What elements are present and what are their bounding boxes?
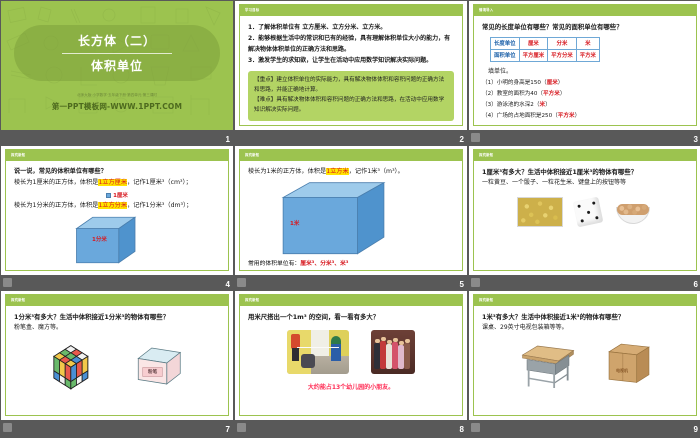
slide-6-question: 1厘米³有多大？生活中体积接近1厘米³的物体有哪些？: [482, 167, 688, 178]
slide-2-number: 2: [460, 135, 464, 144]
slide-8-content: 用米尺搭出一个1m³ 的空间，看一看有多大？: [240, 306, 462, 415]
cell-area-1: 平方厘米: [519, 49, 548, 61]
slide-3-frame: 情境导入 常见的长度单位有哪些？常见的面积单位有哪些？ 长度单位 厘米 分米 米…: [473, 4, 697, 126]
fill-item-1-text: （1）小明的身高是150（: [482, 80, 547, 86]
footer-thumb-icon: [471, 423, 480, 432]
slide-5-footer-line: 常用的体积单位有：厘米³、分米³、米³: [248, 258, 454, 267]
dm-cube-wrap: 1分米: [14, 214, 220, 262]
m-line-suffix: ，记作1米³（m³）。: [349, 168, 404, 175]
meter-cube-label: 1米: [290, 219, 299, 227]
fill-item-4-tail: ）: [575, 113, 581, 119]
objective-item-1: 1．了解体积单位有 立方厘米、立方分米、立方米。: [248, 22, 454, 33]
slide-7-question: 1分米³有多大？生活中体积接近1分米³的物体有哪些？: [14, 312, 220, 323]
title-subtext: 北师大版·小学数学·五年级下册·第四单元·第三课时: [1, 93, 233, 98]
m-line-prefix: 棱长为1米的正方体，体积是: [248, 168, 326, 175]
slide-2-body: 学习目标 1．了解体积单位有 立方厘米、立方分米、立方米。 2．能够根据生活中的…: [235, 1, 467, 130]
decimeter-cube-icon: [59, 214, 159, 266]
slide-thumbnail-7[interactable]: 探究新知 1分米³有多大？生活中体积接近1分米³的物体有哪些？ 粉笔盒、魔方等。: [1, 291, 233, 434]
slide-9-header-label: 探究新知: [479, 297, 493, 302]
slide-8-number: 8: [460, 425, 464, 434]
slide-9-footer: [469, 420, 700, 434]
slide-5-line: 棱长为1米的正方体，体积是1立方米，记作1米³（m³）。: [248, 167, 454, 178]
fill-item-2-tail: ）: [560, 91, 566, 97]
slide-4-content: 说一说，常见的体积单位有哪些？ 棱长为1厘米的正方体，体积是1立方厘米，记作1厘…: [6, 161, 228, 270]
chalk-box-label: 粉笔: [148, 369, 157, 375]
title-divider: [62, 53, 172, 54]
meter-cube-wrap: 1米: [248, 181, 454, 257]
cell-length-1: 厘米: [519, 37, 548, 49]
slide-8-header-label: 探究新知: [245, 297, 259, 302]
slide-5-content: 棱长为1米的正方体，体积是1立方米，记作1米³（m³）。 1米 常用的体积单位有…: [240, 161, 462, 270]
slide-7-content: 1分米³有多大？生活中体积接近1分米³的物体有哪些？ 粉笔盒、魔方等。: [6, 306, 228, 415]
slide-title-line2: 体积单位: [91, 57, 143, 74]
slide-7-frame: 探究新知 1分米³有多大？生活中体积接近1分米³的物体有哪些？ 粉笔盒、魔方等。: [5, 294, 229, 416]
slide-thumbnail-9[interactable]: 探究新知 1米³有多大？生活中体积接近1米³的物体有哪些？ 课桌、29英寸电视包…: [469, 291, 700, 434]
slide-4-question: 说一说，常见的体积单位有哪些？: [14, 167, 220, 178]
line1-suffix: ，记作1厘米³（cm³）；: [127, 179, 192, 186]
slide-6-body: 探究新知 1厘米³有多大？生活中体积接近1厘米³的物体有哪些？ 一粒黄豆、一个骰…: [469, 146, 700, 275]
slide-6-footer: [469, 275, 700, 289]
dice-photo: [573, 197, 604, 228]
fill-item-2-text: （2）教室的面积为40（: [482, 91, 543, 97]
slide-4-header-bar: 探究新知: [6, 150, 228, 161]
slide-8-header-bar: 探究新知: [240, 295, 462, 306]
footer-thumb-icon: [471, 278, 480, 287]
common-units-prefix: 常用的体积单位有：: [248, 261, 300, 267]
slide-9-question: 1米³有多大？生活中体积接近1米³的物体有哪些？: [482, 312, 688, 323]
slide-5-header-label: 探究新知: [245, 152, 259, 157]
footer-thumb-icon: [3, 423, 12, 432]
slide-thumbnail-2[interactable]: 学习目标 1．了解体积单位有 立方厘米、立方分米、立方米。 2．能够根据生活中的…: [235, 1, 467, 144]
fill-item-3-tail: ）: [545, 102, 551, 108]
slide-6-frame: 探究新知 1厘米³有多大？生活中体积接近1厘米³的物体有哪些？ 一粒黄豆、一个骰…: [473, 149, 697, 271]
cell-length-3: 米: [576, 37, 599, 49]
slide-thumbnail-6[interactable]: 探究新知 1厘米³有多大？生活中体积接近1厘米³的物体有哪些？ 一粒黄豆、一个骰…: [469, 146, 700, 289]
m-line-highlight: 1立方米: [326, 168, 349, 175]
dm-cube-label: 1分米: [92, 235, 107, 243]
fill-item-4-answer: 平方米: [558, 113, 575, 119]
chalk-box-photo: 粉笔: [135, 345, 185, 391]
slide-8-frame: 探究新知 用米尺搭出一个1m³ 的空间，看一看有多大？: [239, 294, 463, 416]
slide-2-footer: [235, 130, 467, 144]
slide-thumbnail-1[interactable]: 长方体（二） 体积单位 北师大版·小学数学·五年级下册·第四单元·第三课时 第一…: [1, 1, 233, 144]
slide-6-number: 6: [694, 280, 698, 289]
cell-length-2: 分米: [548, 37, 577, 49]
peanuts-bowl-photo: [613, 198, 653, 226]
slide-5-number: 5: [460, 280, 464, 289]
cell-area-2: 平方分米: [548, 49, 577, 61]
slide-title-line1: 长方体（二）: [78, 32, 156, 49]
slide-thumbnail-grid: 长方体（二） 体积单位 北师大版·小学数学·五年级下册·第四单元·第三课时 第一…: [0, 0, 700, 438]
objective-item-2: 2．能够根据生活中的常识和已有的经验，具有理解体积单位大小的能力，有解决物体体积…: [248, 33, 454, 55]
soybeans-photo: [517, 197, 563, 227]
key-difficulty-box: 【重点】建立体积单位的实际能力，具有解决物体体积和容积问题的正确方法和思路，并能…: [248, 71, 454, 120]
slide-9-body: 探究新知 1米³有多大？生活中体积接近1米³的物体有哪些？ 课桌、29英寸电视包…: [469, 291, 700, 420]
fill-item-3: （3）游泳池的水深2（米）: [482, 100, 688, 111]
small-cube-label: 1厘米: [113, 191, 128, 199]
fill-blank-list: 填单位。 （1）小明的身高是150（厘米） （2）教室的面积为40（平方米） （…: [482, 66, 688, 123]
slide-4-line1: 棱长为1厘米的正方体，体积是1立方厘米，记作1厘米³（cm³）；: [14, 178, 220, 189]
fill-item-1: （1）小明的身高是150（厘米）: [482, 78, 688, 89]
key-point-text: 【重点】建立体积单位的实际能力，具有解决物体体积和容积问题的正确方法和思路，并能…: [254, 76, 448, 96]
slide-5-footer: [235, 275, 467, 289]
slide-5-frame: 探究新知 棱长为1米的正方体，体积是1立方米，记作1米³（m³）。 1米: [239, 149, 463, 271]
school-desk-photo: [518, 343, 578, 391]
line2-prefix: 棱长为1分米的正方体，体积是: [14, 202, 98, 209]
slide-7-answer: 粉笔盒、魔方等。: [14, 323, 220, 333]
slide-7-header-bar: 探究新知: [6, 295, 228, 306]
line2-highlight: 1立方分米: [98, 202, 127, 209]
slide-4-number: 4: [226, 280, 230, 289]
slide-9-answer: 课桌、29英寸电视包装箱等等。: [482, 323, 688, 333]
slide-9-photo-row: 电视机: [482, 341, 688, 391]
common-units-values: 厘米³、分米³、米³: [300, 261, 348, 267]
slide-3-body: 情境导入 常见的长度单位有哪些？常见的面积单位有哪些？ 长度单位 厘米 分米 米…: [469, 1, 700, 130]
slide-6-content: 1厘米³有多大？生活中体积接近1厘米³的物体有哪些？ 一粒黄豆、一个骰子、一粒花…: [474, 161, 696, 270]
slide-6-photo-row: [482, 197, 688, 227]
slide-9-number: 9: [694, 425, 698, 434]
slide-thumbnail-4[interactable]: 探究新知 说一说，常见的体积单位有哪些？ 棱长为1厘米的正方体，体积是1立方厘米…: [1, 146, 233, 289]
footer-thumb-icon: [471, 133, 480, 142]
line1-highlight: 1立方厘米: [98, 179, 127, 186]
slide-1-body: 长方体（二） 体积单位 北师大版·小学数学·五年级下册·第四单元·第三课时 第一…: [1, 1, 233, 130]
slide-3-header-bar: 情境导入: [474, 5, 696, 16]
slide-8-photo-row: [248, 330, 454, 374]
small-cube-icon: [106, 193, 111, 198]
slide-6-header-label: 探究新知: [479, 152, 493, 157]
footer-thumb-icon: [3, 278, 12, 287]
slide-2-header-label: 学习目标: [245, 7, 259, 12]
chalk-box-icon: [135, 345, 185, 387]
slide-6-answer: 一粒黄豆、一个骰子、一粒花生米、键盘上的按钮等等: [482, 178, 688, 188]
slide-thumbnail-3[interactable]: 情境导入 常见的长度单位有哪些？常见的面积单位有哪些？ 长度单位 厘米 分米 米…: [469, 1, 700, 144]
difficulty-point-text: 【难点】具有解决物体体积和容积问题的正确方法和思路，在活动中应用数学知识解决实际…: [254, 96, 448, 116]
footer-thumb-icon: [237, 278, 246, 287]
table-row: 面积单位 平方厘米 平方分米 平方米: [491, 49, 600, 61]
fill-item-2: （2）教室的面积为40（平方米）: [482, 89, 688, 100]
slide-3-header-label: 情境导入: [479, 7, 493, 12]
slide-1-number: 1: [226, 135, 230, 144]
cardboard-carton-photo: 电视机: [606, 341, 652, 391]
fill-item-3-text: （3）游泳池的水深2（: [482, 102, 539, 108]
slide-7-footer: [1, 420, 233, 434]
cell-area-3: 平方米: [576, 49, 599, 61]
title-panel: 长方体（二） 体积单位: [14, 25, 220, 81]
small-cube-row: 1厘米: [14, 191, 220, 199]
slide-8-footer: [235, 420, 467, 434]
title-website: 第一PPT模板网-WWW.1PPT.COM: [1, 101, 233, 112]
units-table: 长度单位 厘米 分米 米 面积单位 平方厘米 平方分米 平方米: [490, 37, 600, 62]
slide-7-photo-row: 粉笔: [14, 341, 220, 395]
slide-7-header-label: 探究新知: [11, 297, 25, 302]
slide-2-frame: 学习目标 1．了解体积单位有 立方厘米、立方分米、立方米。 2．能够根据生活中的…: [239, 4, 463, 126]
objective-item-3: 3．激发学生的求知欲，让学生在活动中应用数学知识解决实际问题。: [248, 55, 454, 66]
children-measuring-photo: [287, 330, 349, 374]
row-label-area: 面积单位: [491, 49, 520, 61]
slide-5-header-bar: 探究新知: [240, 150, 462, 161]
children-group-photo: [371, 330, 415, 374]
table-row: 长度单位 厘米 分米 米: [491, 37, 600, 49]
slide-8-question: 用米尺搭出一个1m³ 的空间，看一看有多大？: [248, 312, 454, 323]
fill-item-2-answer: 平方米: [543, 91, 560, 97]
slide-2-content: 1．了解体积单位有 立方厘米、立方分米、立方米。 2．能够根据生活中的常识和已有…: [240, 16, 462, 125]
slide-4-frame: 探究新知 说一说，常见的体积单位有哪些？ 棱长为1厘米的正方体，体积是1立方厘米…: [5, 149, 229, 271]
slide-4-header-label: 探究新知: [11, 152, 25, 157]
slide-4-line2: 棱长为1分米的正方体，体积是1立方分米，记作1分米³（dm³）；: [14, 201, 220, 212]
slide-2-header-bar: 学习目标: [240, 5, 462, 16]
slide-3-question: 常见的长度单位有哪些？常见的面积单位有哪些？: [482, 22, 688, 33]
fill-item-1-tail: ）: [558, 80, 564, 86]
footer-thumb-icon: [237, 423, 246, 432]
carton-icon: [606, 341, 652, 387]
rubiks-cube-photo: [49, 341, 105, 395]
slide-4-footer: [1, 275, 233, 289]
slide-8-note: 大约能占13个幼儿园的小朋友。: [248, 382, 454, 391]
fill-item-1-answer: 厘米: [547, 80, 558, 86]
slide-3-content: 常见的长度单位有哪些？常见的面积单位有哪些？ 长度单位 厘米 分米 米 面积单位…: [474, 16, 696, 125]
slide-9-frame: 探究新知 1米³有多大？生活中体积接近1米³的物体有哪些？ 课桌、29英寸电视包…: [473, 294, 697, 416]
slide-9-header-bar: 探究新知: [474, 295, 696, 306]
slide-6-header-bar: 探究新知: [474, 150, 696, 161]
slide-8-body: 探究新知 用米尺搭出一个1m³ 的空间，看一看有多大？: [235, 291, 467, 420]
slide-9-content: 1米³有多大？生活中体积接近1米³的物体有哪些？ 课桌、29英寸电视包装箱等等。: [474, 306, 696, 415]
row-label-length: 长度单位: [491, 37, 520, 49]
slide-thumbnail-8[interactable]: 探究新知 用米尺搭出一个1m³ 的空间，看一看有多大？: [235, 291, 467, 434]
fill-item-4-text: （4）广场的占地面积是250（: [482, 113, 558, 119]
slide-thumbnail-5[interactable]: 探究新知 棱长为1米的正方体，体积是1立方米，记作1米³（m³）。 1米: [235, 146, 467, 289]
line2-suffix: ，记作1分米³（dm³）；: [127, 202, 192, 209]
slide-1-footer: [1, 130, 233, 144]
slide-4-body: 探究新知 说一说，常见的体积单位有哪些？ 棱长为1厘米的正方体，体积是1立方厘米…: [1, 146, 233, 275]
fill-title: 填单位。: [488, 66, 688, 78]
slide-7-body: 探究新知 1分米³有多大？生活中体积接近1分米³的物体有哪些？ 粉笔盒、魔方等。: [1, 291, 233, 420]
slide-3-number: 3: [694, 135, 698, 144]
line1-prefix: 棱长为1厘米的正方体，体积是: [14, 179, 98, 186]
slide-7-number: 7: [226, 425, 230, 434]
slide-3-footer: [469, 130, 700, 144]
fill-item-4: （4）广场的占地面积是250（平方米）: [482, 111, 688, 122]
carton-label: 电视机: [616, 368, 628, 374]
slide-5-body: 探究新知 棱长为1米的正方体，体积是1立方米，记作1米³（m³）。 1米: [235, 146, 467, 275]
